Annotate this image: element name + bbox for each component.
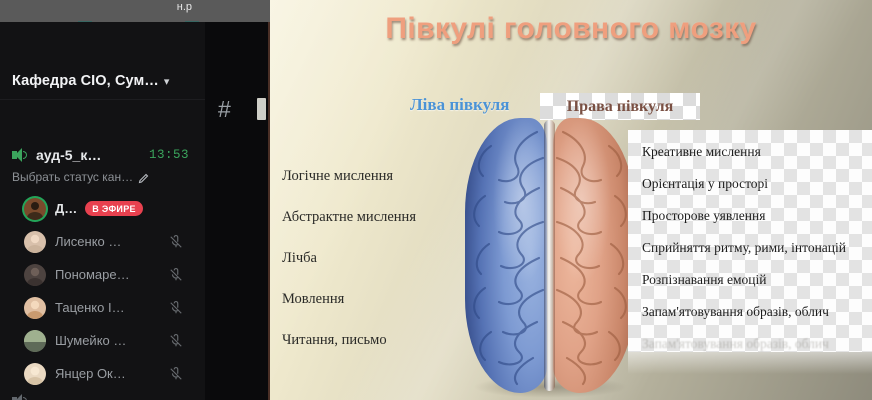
animation-ghost-text: Запам'ятовування образів, облич bbox=[642, 336, 829, 352]
list-item: Креативне мислення bbox=[642, 144, 761, 160]
list-item: Просторове уявлення bbox=[642, 208, 765, 224]
list-item: Мовлення bbox=[282, 291, 482, 308]
voice-connection-timer: 13:53 bbox=[149, 148, 189, 162]
status-badge: В ЭФИРЕ bbox=[85, 201, 143, 216]
screen-share-window: н.р Кафедра СІО, Сум… ▾ ауд-5_к… 13:53 В… bbox=[0, 0, 872, 400]
left-hemisphere-label: Ліва півкуля bbox=[410, 95, 509, 115]
voice-channel-row[interactable]: ауд-5_к… 13:53 bbox=[0, 144, 205, 166]
hash-icon: # bbox=[218, 94, 231, 124]
discord-sidebar: Кафедра СІО, Сум… ▾ ауд-5_к… 13:53 Выбра… bbox=[0, 22, 270, 400]
list-item: Орієнтація у просторі bbox=[642, 176, 768, 192]
avatar bbox=[24, 330, 46, 352]
member-name: Д… bbox=[55, 201, 77, 216]
mic-muted-icon bbox=[169, 301, 183, 315]
right-hemisphere-label-box: Права півкуля bbox=[540, 93, 700, 120]
member-name: Пономаре… bbox=[55, 267, 130, 282]
left-hemisphere bbox=[465, 118, 547, 393]
list-item: Абстрактне мислення bbox=[282, 209, 482, 226]
voice-channel-row-cutoff[interactable]: ​ bbox=[12, 393, 36, 400]
list-item[interactable]: Янцер Ок… bbox=[0, 357, 205, 390]
sidebar-backdrop bbox=[205, 22, 270, 400]
member-name: Шумейко … bbox=[55, 333, 126, 348]
member-list: Д… В ЭФИРЕ Лисенко … bbox=[0, 192, 205, 390]
speaker-icon bbox=[12, 148, 29, 162]
page-title: Півкулі головного мозку bbox=[270, 12, 872, 46]
member-name: Лисенко … bbox=[55, 234, 121, 249]
channel-hash-area[interactable]: # bbox=[213, 94, 270, 124]
brain-image bbox=[465, 118, 635, 393]
list-item[interactable]: Таценко І… bbox=[0, 291, 205, 324]
voice-channel-name: ауд-5_к… bbox=[36, 147, 101, 163]
panel-edge-fragment bbox=[257, 98, 266, 120]
list-item: Сприйняття ритму, рими, інтонацій bbox=[642, 240, 846, 256]
list-item[interactable]: Д… В ЭФИРЕ bbox=[0, 192, 205, 225]
list-item: Логічне мислення bbox=[282, 168, 482, 185]
right-hemisphere bbox=[553, 118, 635, 393]
list-item: Лічба bbox=[282, 250, 482, 267]
left-hemisphere-functions: Логічне мислення Абстрактне мислення Ліч… bbox=[282, 168, 482, 373]
avatar bbox=[24, 198, 46, 220]
brain-midline bbox=[544, 120, 555, 391]
pencil-icon[interactable] bbox=[138, 171, 150, 183]
list-item[interactable]: Пономаре… bbox=[0, 258, 205, 291]
mic-muted-icon bbox=[169, 367, 183, 381]
right-hemisphere-functions: Креативне мислення Орієнтація у просторі… bbox=[628, 130, 872, 352]
mic-muted-icon bbox=[169, 334, 183, 348]
channel-status-text: Выбрать статус кан… bbox=[12, 170, 132, 184]
speaker-icon bbox=[12, 394, 29, 400]
list-item: Читання, письмо bbox=[282, 332, 482, 349]
right-hemisphere-label: Права півкуля bbox=[567, 98, 674, 116]
list-item: Розпізнавання емоцій bbox=[642, 272, 767, 288]
mic-muted-icon bbox=[169, 235, 183, 249]
avatar bbox=[24, 363, 46, 385]
avatar bbox=[24, 231, 46, 253]
mic-muted-icon bbox=[169, 268, 183, 282]
titlebar-text: н.р bbox=[177, 1, 192, 13]
chevron-down-icon: ▾ bbox=[164, 77, 170, 88]
shared-slide: Півкулі головного мозку Ліва півкуля Пра… bbox=[270, 0, 872, 400]
window-titlebar: н.р bbox=[0, 0, 270, 22]
avatar bbox=[24, 264, 46, 286]
server-name: Кафедра СІО, Сум… bbox=[12, 73, 159, 89]
channel-status-row[interactable]: Выбрать статус кан… bbox=[0, 168, 205, 186]
avatar bbox=[24, 297, 46, 319]
sidebar-panel: Кафедра СІО, Сум… ▾ ауд-5_к… 13:53 Выбра… bbox=[0, 22, 205, 400]
member-name: Янцер Ок… bbox=[55, 366, 126, 381]
list-item[interactable]: Лисенко … bbox=[0, 225, 205, 258]
list-item: Запам'ятовування образів, облич bbox=[642, 304, 829, 320]
member-name: Таценко І… bbox=[55, 300, 125, 315]
panel-bottom-fade bbox=[628, 352, 872, 374]
list-item[interactable]: Шумейко … bbox=[0, 324, 205, 357]
server-header[interactable]: Кафедра СІО, Сум… ▾ bbox=[0, 63, 205, 100]
